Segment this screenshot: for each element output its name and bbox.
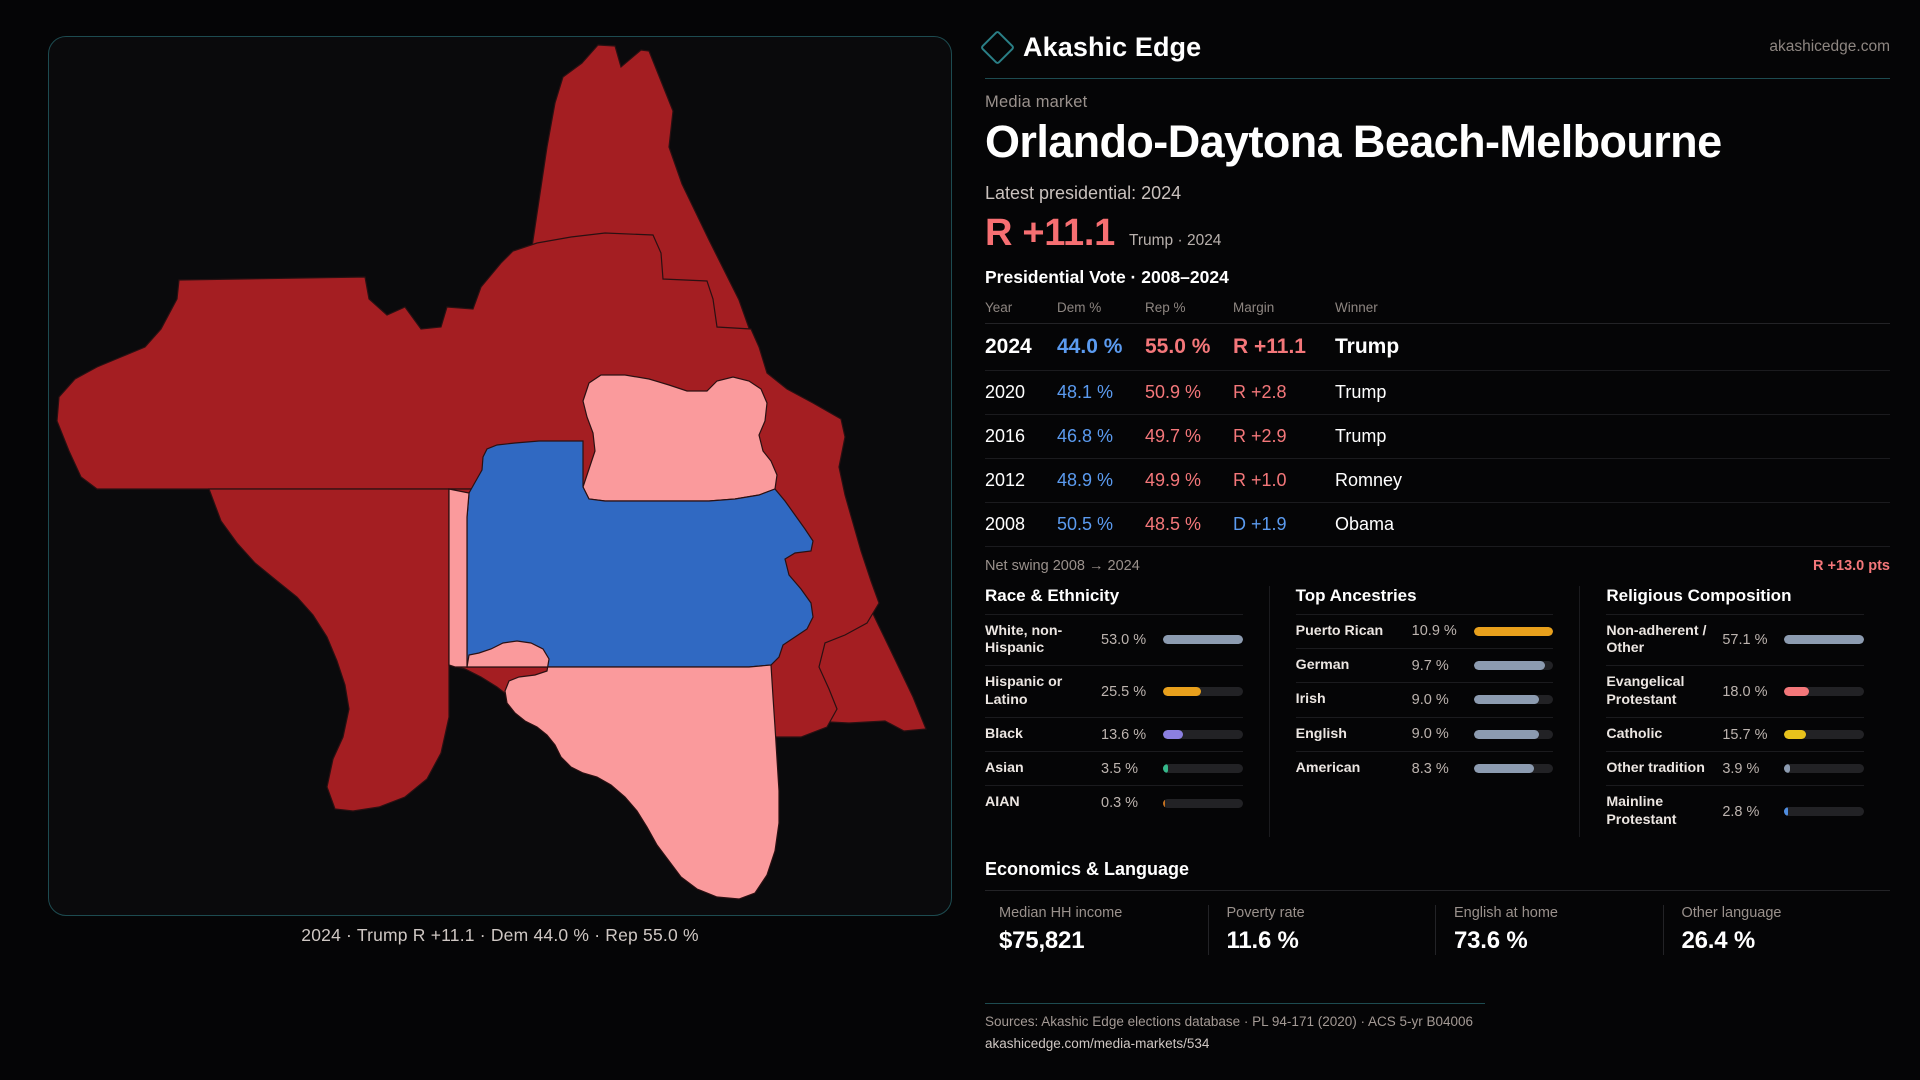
- cell-year: 2024: [985, 323, 1057, 370]
- demo-row-label: Catholic: [1606, 726, 1714, 743]
- cell-year: 2008: [985, 502, 1057, 546]
- demo-row-value: 9.7 %: [1412, 658, 1466, 674]
- demo-row[interactable]: Other tradition3.9 %: [1606, 751, 1864, 785]
- demo-row[interactable]: English9.0 %: [1296, 717, 1554, 751]
- cell-rep-pct: 49.7 %: [1145, 414, 1233, 458]
- brand-divider: [985, 78, 1890, 79]
- cell-rep-pct: 48.5 %: [1145, 502, 1233, 546]
- demo-row[interactable]: Mainline Protestant2.8 %: [1606, 785, 1864, 837]
- cell-winner: Trump: [1335, 323, 1890, 370]
- demo-row-label: Hispanic or Latino: [985, 674, 1093, 709]
- map-county-rep-light[interactable]: [583, 375, 777, 501]
- economics-cell-label: Poverty rate: [1227, 905, 1418, 921]
- cell-margin: D +1.9: [1233, 502, 1335, 546]
- eyebrow-label: Media market: [985, 93, 1890, 112]
- col-dem: Dem %: [1057, 300, 1145, 324]
- demo-column-title: Religious Composition: [1606, 586, 1864, 614]
- demo-row-label: Non-adherent / Other: [1606, 623, 1714, 658]
- brand-left: Akashic Edge: [985, 32, 1201, 63]
- demo-row[interactable]: American8.3 %: [1296, 751, 1554, 785]
- cell-winner: Obama: [1335, 502, 1890, 546]
- cell-rep-pct: 50.9 %: [1145, 370, 1233, 414]
- sources-permalink[interactable]: akashicedge.com/media-markets/534: [985, 1036, 1890, 1051]
- cell-dem-pct: 48.9 %: [1057, 458, 1145, 502]
- report-panel: Akashic Edge akashicedge.com Media marke…: [985, 26, 1890, 1066]
- demo-row-value: 9.0 %: [1412, 692, 1466, 708]
- brand-name: Akashic Edge: [1023, 32, 1201, 63]
- demo-row-bar: [1163, 764, 1243, 773]
- economics-cell-value: $75,821: [999, 927, 1190, 955]
- page-title: Orlando-Daytona Beach-Melbourne: [985, 118, 1890, 167]
- demo-row-label: Other tradition: [1606, 760, 1714, 777]
- vote-table-title: Presidential Vote · 2008–2024: [985, 267, 1890, 288]
- map-county-rep[interactable]: [209, 489, 449, 811]
- cell-winner: Trump: [1335, 414, 1890, 458]
- demo-row-bar: [1474, 730, 1554, 739]
- headline-margin: R +11.1 Trump · 2024: [985, 212, 1890, 255]
- demo-row-value: 15.7 %: [1722, 727, 1776, 743]
- demo-row-value: 8.3 %: [1412, 761, 1466, 777]
- demo-row-value: 57.1 %: [1722, 632, 1776, 648]
- economics-title: Economics & Language: [985, 859, 1890, 880]
- demo-row-bar: [1784, 764, 1864, 773]
- demo-row-label: AIAN: [985, 794, 1093, 811]
- latest-presidential-label: Latest presidential: 2024: [985, 183, 1890, 204]
- net-swing-label: Net swing 2008 → 2024: [985, 558, 1140, 574]
- demo-column: Top AncestriesPuerto Rican10.9 %German9.…: [1269, 586, 1580, 838]
- cell-dem-pct: 50.5 %: [1057, 502, 1145, 546]
- economics-cell-label: Median HH income: [999, 905, 1190, 921]
- economics-cell: Other language26.4 %: [1663, 905, 1891, 955]
- demo-row-bar: [1784, 730, 1864, 739]
- demo-column: Race & EthnicityWhite, non-Hispanic53.0 …: [985, 586, 1269, 838]
- demo-row-value: 10.9 %: [1412, 623, 1466, 639]
- economics-cell-value: 73.6 %: [1454, 927, 1645, 955]
- demo-column-title: Race & Ethnicity: [985, 586, 1243, 614]
- demographics-section: Race & EthnicityWhite, non-Hispanic53.0 …: [985, 586, 1890, 838]
- demo-row-bar: [1163, 799, 1243, 808]
- headline-margin-value: R +11.1: [985, 212, 1115, 255]
- table-row[interactable]: 201646.8 %49.7 %R +2.9Trump: [985, 414, 1890, 458]
- report-page: 2024 · Trump R +11.1 · Dem 44.0 % · Rep …: [0, 0, 1920, 1080]
- demo-row-value: 18.0 %: [1722, 684, 1776, 700]
- demo-row[interactable]: Black13.6 %: [985, 717, 1243, 751]
- demo-row[interactable]: Hispanic or Latino25.5 %: [985, 665, 1243, 717]
- demo-row-bar: [1474, 695, 1554, 704]
- headline-margin-sub: Trump · 2024: [1129, 232, 1221, 250]
- demo-row-bar: [1163, 687, 1243, 696]
- demo-row[interactable]: Catholic15.7 %: [1606, 717, 1864, 751]
- demo-row-value: 53.0 %: [1101, 632, 1155, 648]
- cell-year: 2016: [985, 414, 1057, 458]
- demo-row-value: 3.9 %: [1722, 761, 1776, 777]
- cell-year: 2020: [985, 370, 1057, 414]
- cell-dem-pct: 48.1 %: [1057, 370, 1145, 414]
- cell-rep-pct: 55.0 %: [1145, 323, 1233, 370]
- demo-row-value: 3.5 %: [1101, 761, 1155, 777]
- demo-row-bar: [1784, 635, 1864, 644]
- economics-divider: [985, 890, 1890, 891]
- table-row[interactable]: 202444.0 %55.0 %R +11.1Trump: [985, 323, 1890, 370]
- demo-row[interactable]: AIAN0.3 %: [985, 785, 1243, 819]
- sources-line: Sources: Akashic Edge elections database…: [985, 1014, 1890, 1029]
- demo-row-bar: [1474, 627, 1554, 636]
- diamond-icon: [980, 29, 1015, 64]
- economics-cell-value: 26.4 %: [1682, 927, 1873, 955]
- economics-grid: Median HH income$75,821Poverty rate11.6 …: [985, 905, 1890, 955]
- demo-row-label: Asian: [985, 760, 1093, 777]
- demo-row-label: German: [1296, 657, 1404, 674]
- economics-cell-label: English at home: [1454, 905, 1645, 921]
- economics-cell: Median HH income$75,821: [985, 905, 1208, 955]
- demo-row-bar: [1474, 661, 1554, 670]
- map-county-rep-light[interactable]: [467, 641, 779, 899]
- cell-margin: R +11.1: [1233, 323, 1335, 370]
- cell-winner: Trump: [1335, 370, 1890, 414]
- economics-cell-label: Other language: [1682, 905, 1873, 921]
- demo-row[interactable]: Irish9.0 %: [1296, 682, 1554, 716]
- col-winner: Winner: [1335, 300, 1890, 324]
- cell-margin: R +2.9: [1233, 414, 1335, 458]
- demo-row[interactable]: Non-adherent / Other57.1 %: [1606, 614, 1864, 666]
- demo-column-title: Top Ancestries: [1296, 586, 1554, 614]
- demo-row[interactable]: Evangelical Protestant18.0 %: [1606, 665, 1864, 717]
- table-header-row: Year Dem % Rep % Margin Winner: [985, 300, 1890, 324]
- demo-row[interactable]: Asian3.5 %: [985, 751, 1243, 785]
- cell-winner: Romney: [1335, 458, 1890, 502]
- demo-row-label: English: [1296, 726, 1404, 743]
- demo-row-label: Puerto Rican: [1296, 623, 1404, 640]
- cell-dem-pct: 44.0 %: [1057, 323, 1145, 370]
- demo-row-bar: [1163, 730, 1243, 739]
- sources-divider: [985, 1003, 1485, 1004]
- demo-row-value: 13.6 %: [1101, 727, 1155, 743]
- economics-cell: English at home73.6 %: [1435, 905, 1663, 955]
- cell-year: 2012: [985, 458, 1057, 502]
- demo-row-label: Black: [985, 726, 1093, 743]
- demo-row-value: 25.5 %: [1101, 684, 1155, 700]
- map-county-rep-light[interactable]: [449, 489, 469, 667]
- demo-row[interactable]: Puerto Rican10.9 %: [1296, 614, 1554, 648]
- presidential-vote-table: Year Dem % Rep % Margin Winner 202444.0 …: [985, 300, 1890, 547]
- cell-margin: R +1.0: [1233, 458, 1335, 502]
- cell-dem-pct: 46.8 %: [1057, 414, 1145, 458]
- media-market-map[interactable]: [49, 37, 952, 916]
- demo-row-value: 9.0 %: [1412, 726, 1466, 742]
- brand-url[interactable]: akashicedge.com: [1769, 38, 1890, 56]
- cell-rep-pct: 49.9 %: [1145, 458, 1233, 502]
- map-panel: [48, 36, 952, 916]
- demo-row-label: American: [1296, 760, 1404, 777]
- table-row[interactable]: 201248.9 %49.9 %R +1.0Romney: [985, 458, 1890, 502]
- economics-cell-value: 11.6 %: [1227, 927, 1418, 955]
- demo-row-bar: [1784, 807, 1864, 816]
- col-year: Year: [985, 300, 1057, 324]
- economics-cell: Poverty rate11.6 %: [1208, 905, 1436, 955]
- demo-row-bar: [1784, 687, 1864, 696]
- demo-row-value: 0.3 %: [1101, 795, 1155, 811]
- demo-row-bar: [1163, 635, 1243, 644]
- demo-row-bar: [1474, 764, 1554, 773]
- demo-row-label: Evangelical Protestant: [1606, 674, 1714, 709]
- demo-row[interactable]: German9.7 %: [1296, 648, 1554, 682]
- demo-row[interactable]: White, non-Hispanic53.0 %: [985, 614, 1243, 666]
- net-swing-value: R +13.0 pts: [1813, 558, 1890, 574]
- map-caption: 2024 · Trump R +11.1 · Dem 44.0 % · Rep …: [48, 925, 952, 946]
- table-row[interactable]: 202048.1 %50.9 %R +2.8Trump: [985, 370, 1890, 414]
- demo-row-label: White, non-Hispanic: [985, 623, 1093, 658]
- demo-row-label: Mainline Protestant: [1606, 794, 1714, 829]
- cell-margin: R +2.8: [1233, 370, 1335, 414]
- brand-bar: Akashic Edge akashicedge.com: [985, 26, 1890, 68]
- net-swing: Net swing 2008 → 2024 R +13.0 pts: [985, 558, 1890, 574]
- demo-column: Religious CompositionNon-adherent / Othe…: [1579, 586, 1890, 838]
- col-rep: Rep %: [1145, 300, 1233, 324]
- demo-row-value: 2.8 %: [1722, 804, 1776, 820]
- demo-row-label: Irish: [1296, 691, 1404, 708]
- table-row[interactable]: 200850.5 %48.5 %D +1.9Obama: [985, 502, 1890, 546]
- col-margin: Margin: [1233, 300, 1335, 324]
